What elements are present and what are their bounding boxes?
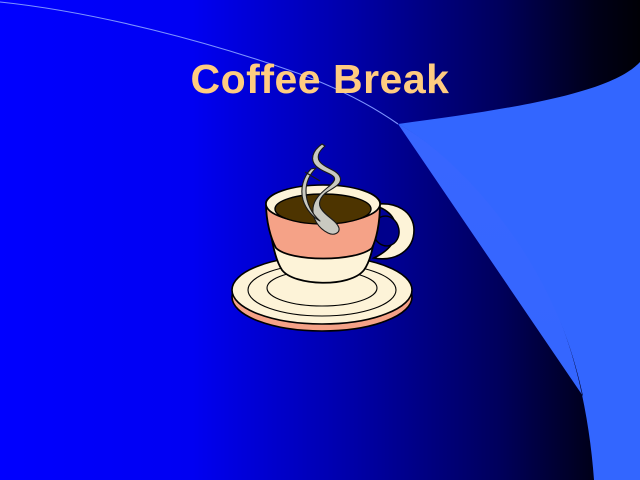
slide-title: Coffee Break: [0, 58, 640, 101]
presentation-slide: Coffee Break: [0, 0, 640, 480]
cup-group: [266, 185, 380, 283]
